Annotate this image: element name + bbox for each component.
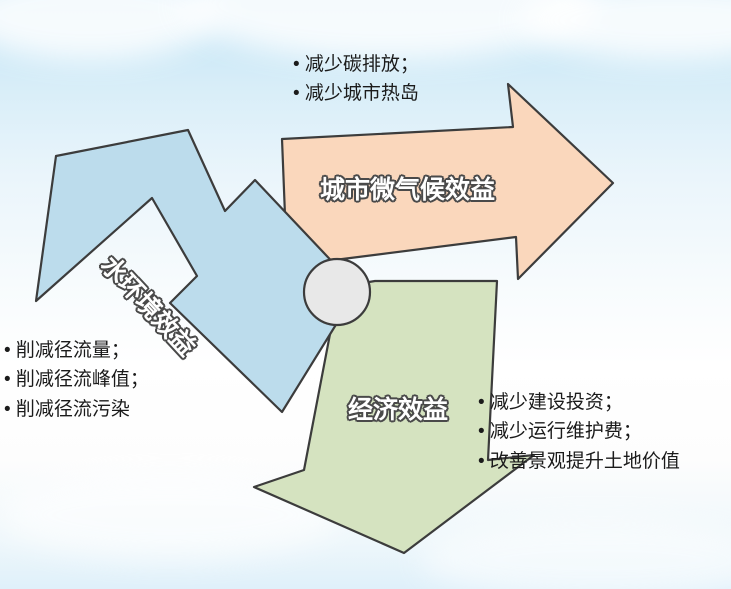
bullet-item: • 减少建设投资； bbox=[478, 388, 680, 417]
bullet-item: • 削减径流量； bbox=[4, 336, 149, 365]
bullet-list-water-environment: • 削减径流量； • 削减径流峰值； • 削减径流污染 bbox=[4, 336, 149, 424]
bullet-item: • 减少城市热岛 bbox=[293, 79, 419, 108]
arrow-label-micro-climate: 城市微气候效益 bbox=[320, 170, 495, 206]
center-circle bbox=[304, 259, 370, 325]
bullet-item: • 减少运行维护费； bbox=[478, 417, 680, 446]
bullet-item: • 改善景观提升土地价值 bbox=[478, 447, 680, 476]
diagram-canvas: 城市微气候效益 水环境效益 经济效益 • 减少碳排放； • 减少城市热岛 • 削… bbox=[0, 0, 731, 589]
bullet-list-economic: • 减少建设投资； • 减少运行维护费； • 改善景观提升土地价值 bbox=[478, 388, 680, 476]
bullet-list-micro-climate: • 减少碳排放； • 减少城市热岛 bbox=[293, 50, 419, 109]
bullet-item: • 削减径流污染 bbox=[4, 395, 149, 424]
arrow-label-economic: 经济效益 bbox=[348, 390, 448, 426]
bullet-item: • 削减径流峰值； bbox=[4, 365, 149, 394]
bullet-item: • 减少碳排放； bbox=[293, 50, 419, 79]
